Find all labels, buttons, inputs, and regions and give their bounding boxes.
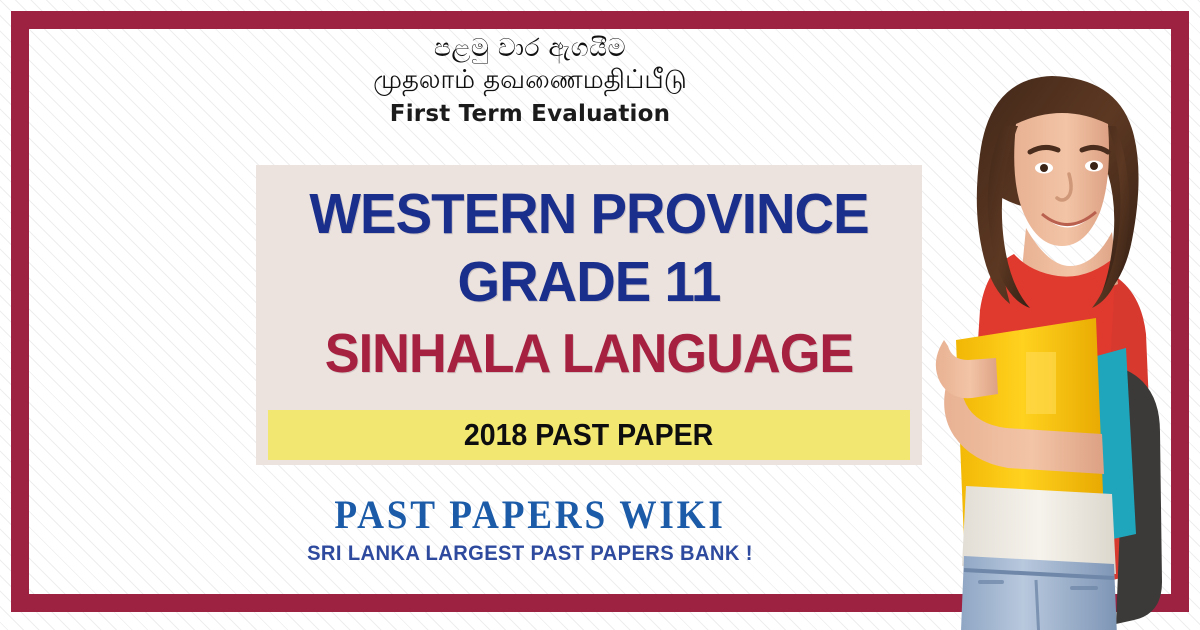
heading-group: පළමු වාර ඇගයීම முதலாம் தவணைமதிப்பீடு Fir… <box>0 32 1060 129</box>
jeans-pocket-right <box>1070 586 1098 590</box>
site-logo-name: PAST PAPERS WIKI <box>37 492 1023 538</box>
past-paper-banner: 2018 PAST PAPER <box>268 410 910 460</box>
student-photo <box>930 40 1200 630</box>
title-province: WESTERN PROVINCE <box>279 183 899 245</box>
student-figure <box>936 76 1162 630</box>
jeans-pocket-left <box>978 580 1004 584</box>
site-logo: PAST PAPERS WIKI SRI LANKA LARGEST PAST … <box>0 492 1060 567</box>
past-paper-banner-label: 2018 PAST PAPER <box>464 417 713 453</box>
site-logo-tagline: SRI LANKA LARGEST PAST PAPERS BANK ! <box>21 541 1039 567</box>
heading-tamil: முதலாம் தவணைமதிப்பீடு <box>0 63 1060 97</box>
title-grade: GRADE 11 <box>279 251 899 313</box>
heading-english: First Term Evaluation <box>0 99 1060 129</box>
title-panel-content: WESTERN PROVINCE GRADE 11 SINHALA LANGUA… <box>256 165 922 383</box>
frame-border-right <box>1171 11 1189 612</box>
heading-sinhala: පළමු වාර ඇගයීම <box>0 32 1060 63</box>
folder-label <box>1026 352 1056 414</box>
frame-border-top <box>11 11 1189 29</box>
title-subject: SINHALA LANGUAGE <box>282 323 896 383</box>
title-panel: WESTERN PROVINCE GRADE 11 SINHALA LANGUA… <box>256 165 922 465</box>
poster-canvas: පළමු වාර ඇගයීම முதலாம் தவணைமதிப்பீடு Fir… <box>0 0 1200 630</box>
